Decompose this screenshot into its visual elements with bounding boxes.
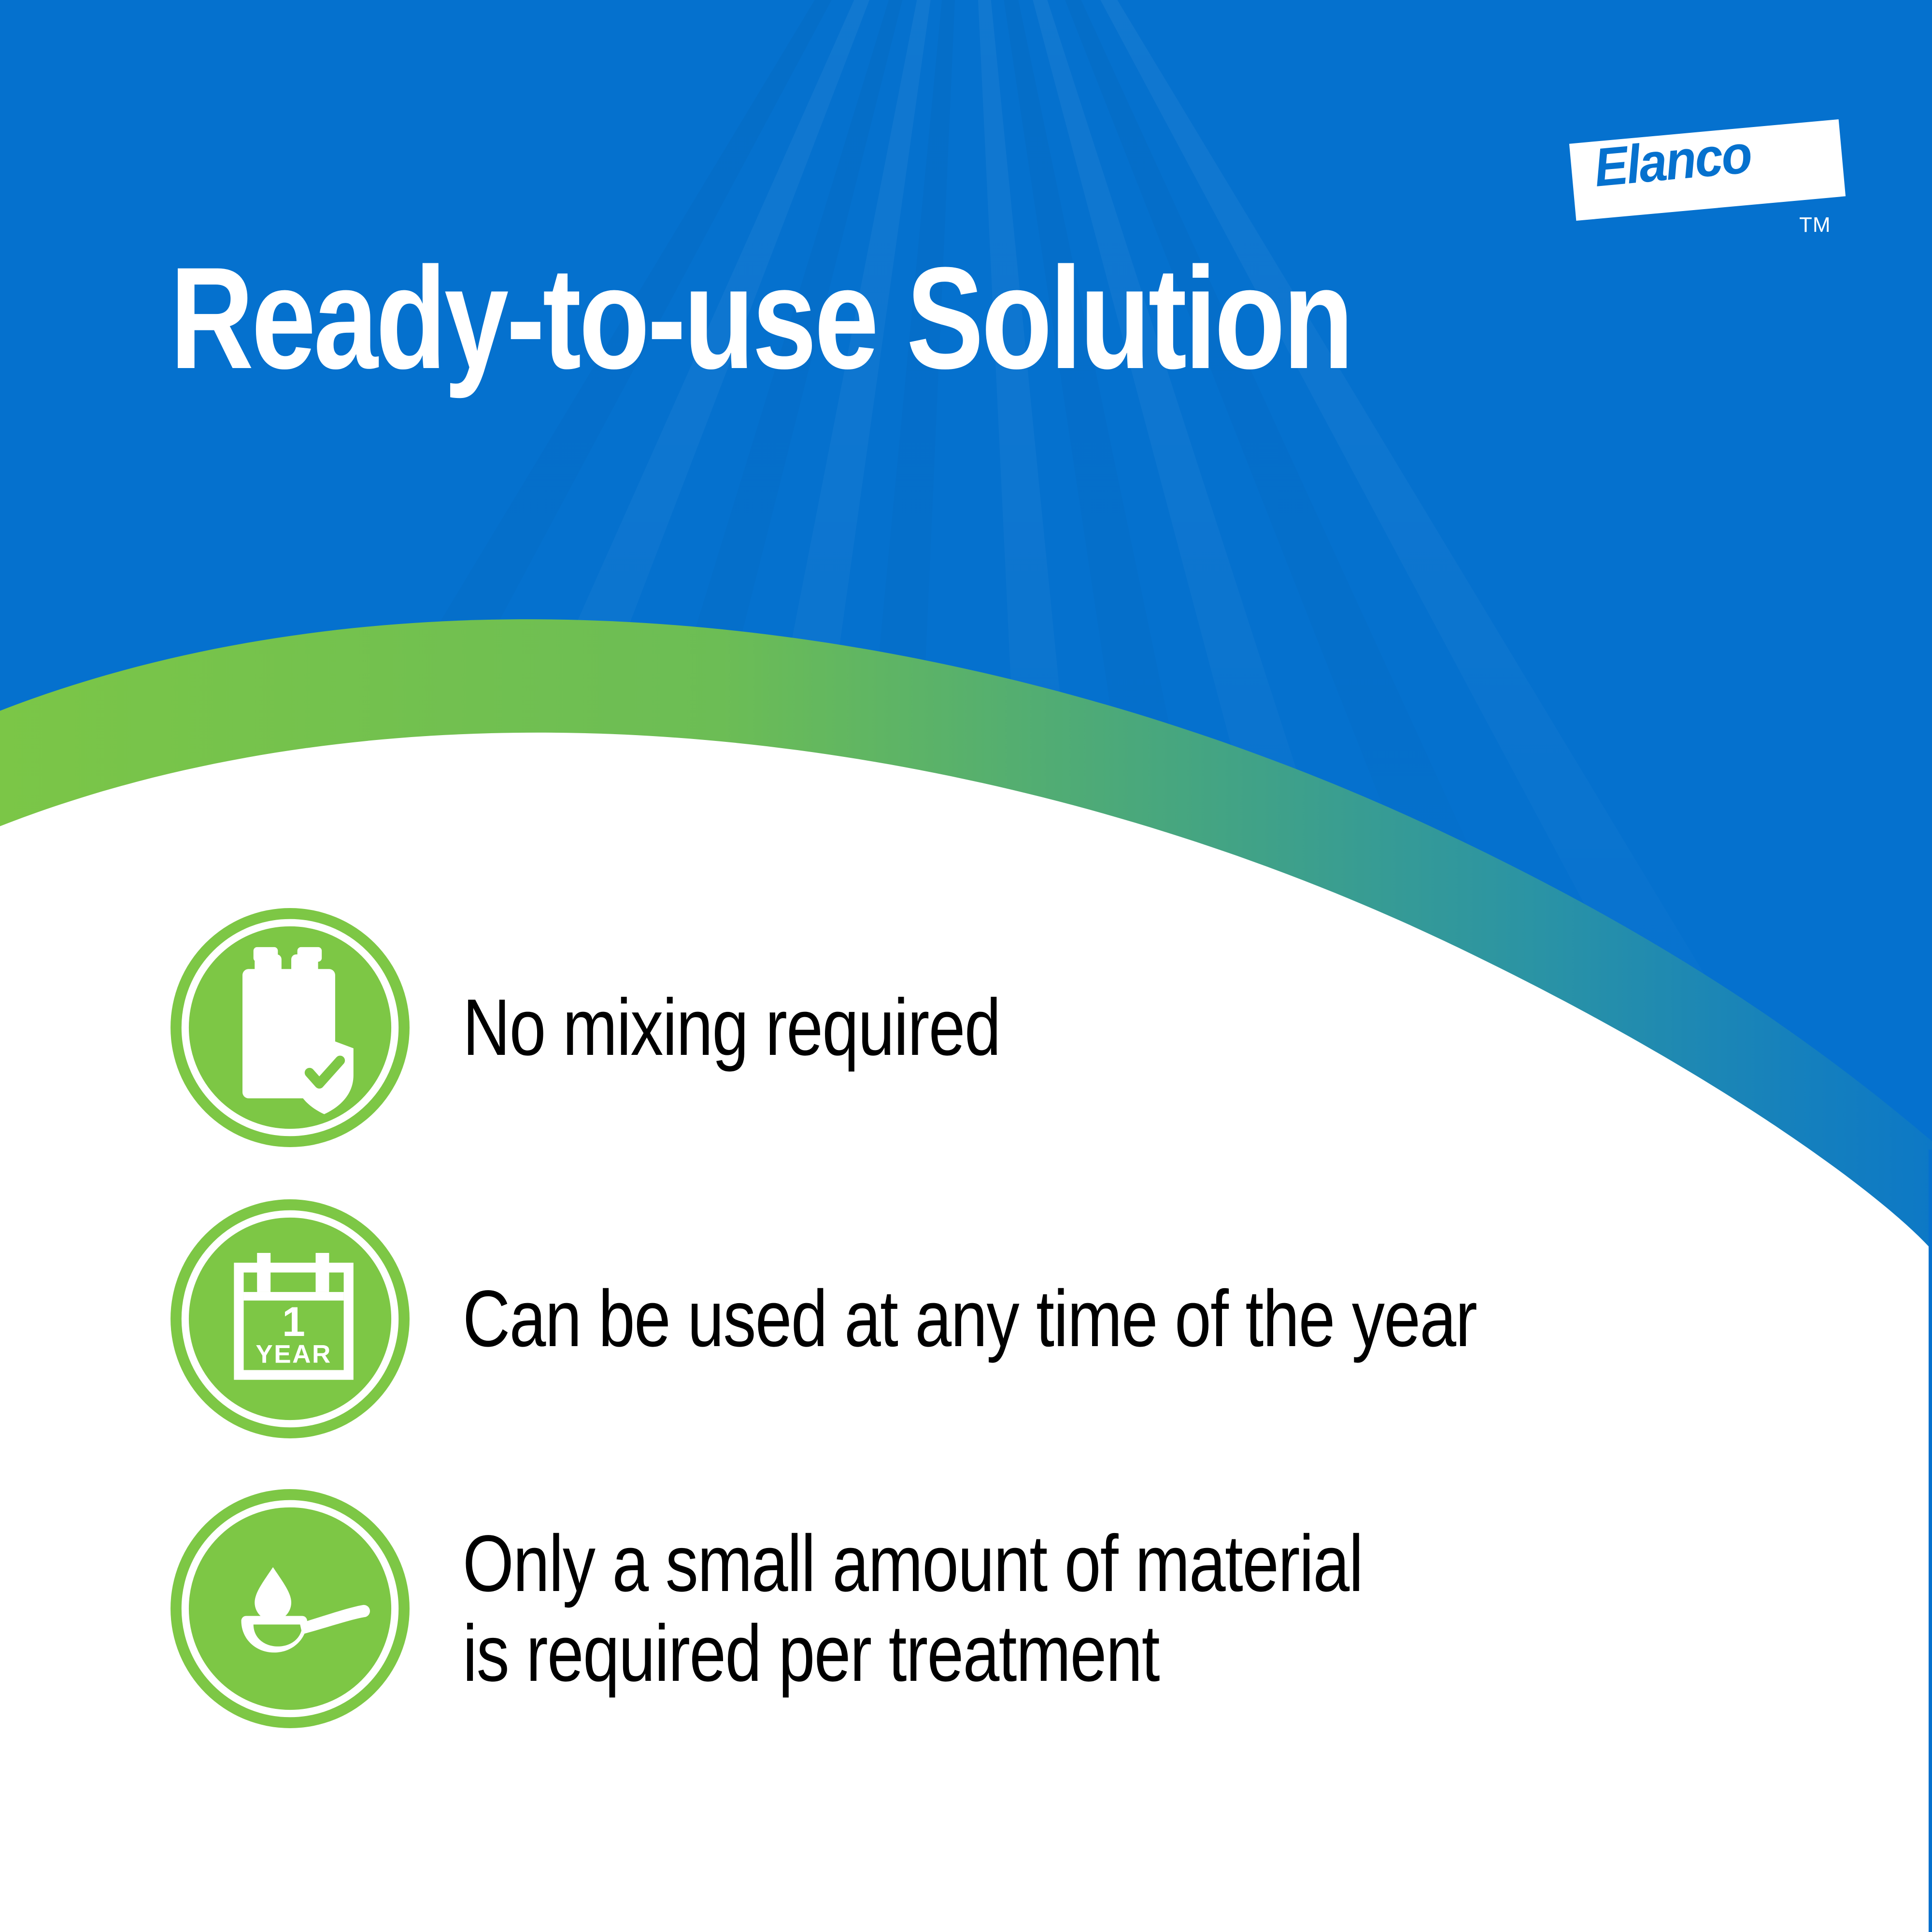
feature-list: No mixing required 1 YEAR xyxy=(0,0,1932,1932)
slide-canvas: Ready-to-use Solution Elanco TM No mixin xyxy=(0,0,1932,1932)
list-item-label: Can be used at any time of the year xyxy=(463,1274,1477,1364)
list-item: No mixing required xyxy=(168,906,1810,1150)
calendar-unit: YEAR xyxy=(256,1340,331,1368)
calendar-year-icon: 1 YEAR xyxy=(168,1197,412,1441)
list-item: Only a small amount of material is requi… xyxy=(168,1487,1810,1731)
calendar-number: 1 xyxy=(282,1299,305,1345)
bottle-shield-icon xyxy=(168,906,412,1150)
list-item: 1 YEAR Can be used at any time of the ye… xyxy=(168,1197,1810,1441)
list-item-label: Only a small amount of material is requi… xyxy=(463,1519,1363,1699)
list-item-label: No mixing required xyxy=(463,983,1000,1073)
droplet-spoon-icon xyxy=(168,1487,412,1731)
